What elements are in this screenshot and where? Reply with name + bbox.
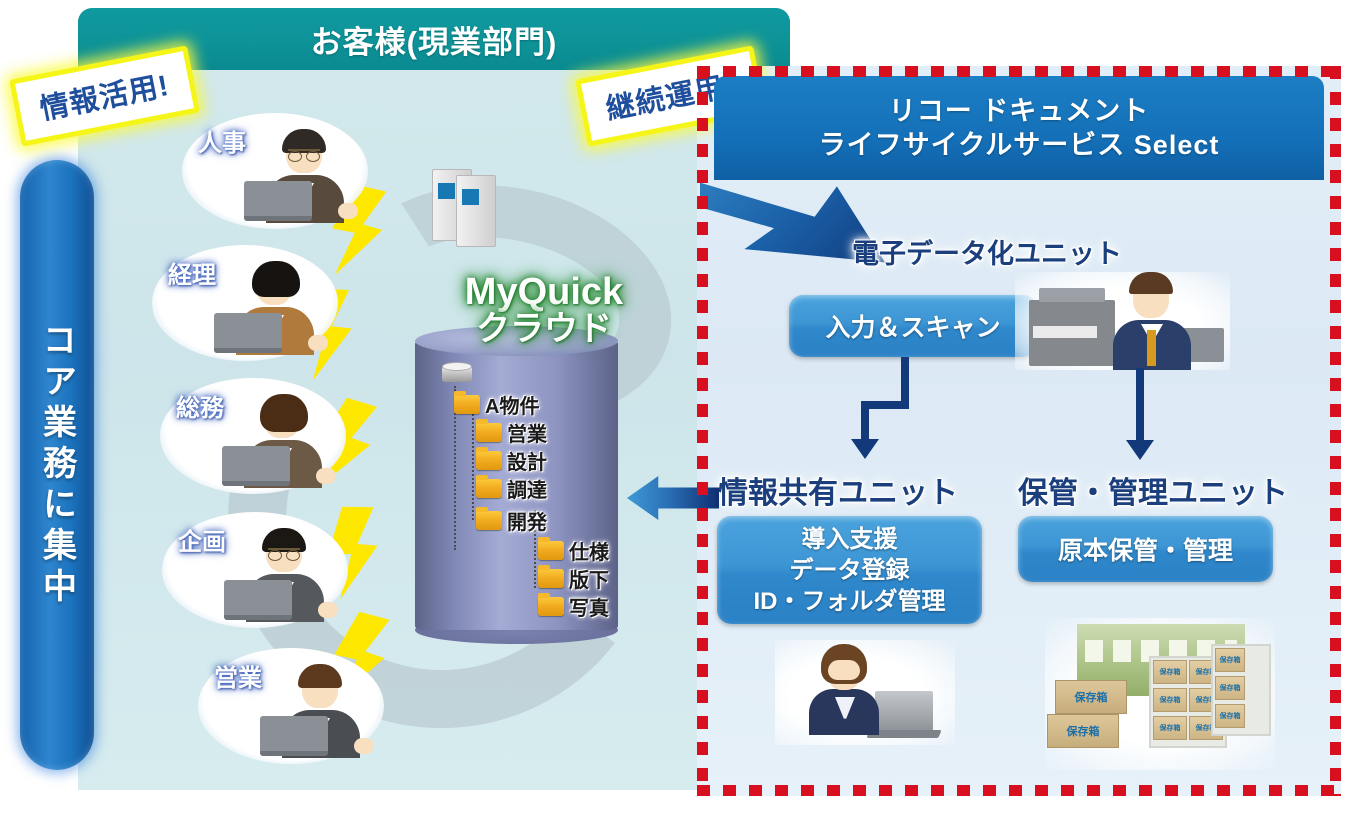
storage-box: 保存箱 — [1215, 704, 1245, 728]
warehouse-illustration: 保存箱 保存箱 保存箱 保存箱 保存箱 保存箱 保存箱 保存箱 保存箱 保存箱 … — [1045, 618, 1275, 770]
person-figure-icon — [222, 396, 334, 488]
arrow-to-sharing-unit — [845, 357, 915, 462]
folder-label: 版下 — [569, 564, 609, 593]
storage-box: 保存箱 — [1153, 716, 1187, 740]
folder-row[interactable]: 設計 — [476, 446, 547, 475]
arrow-to-storage-unit — [1128, 368, 1158, 464]
folder-icon — [538, 597, 564, 616]
database-icon — [442, 362, 472, 386]
folder-icon — [476, 479, 502, 498]
persona-general-affairs: 総務 — [160, 378, 346, 494]
persona-label: 経理 — [168, 255, 216, 290]
button-label: ID・フォルダ管理 — [754, 586, 946, 617]
unit-title-digitization: 電子データ化ユニット — [852, 232, 1122, 271]
myquick-cloud-label: クラウド — [444, 311, 644, 347]
storage-box-label: 保存箱 — [1160, 695, 1181, 705]
folder-row[interactable]: 営業 — [476, 418, 547, 447]
tree-connector — [472, 402, 474, 520]
storage-box-label: 保存箱 — [1220, 711, 1241, 721]
persona-sales: 営業 — [198, 648, 384, 764]
folder-icon — [538, 569, 564, 588]
laptop-icon — [875, 691, 933, 731]
myquick-brand: MyQuick — [444, 273, 644, 311]
folder-icon — [454, 395, 480, 414]
multifunction-printer-icon — [1029, 300, 1115, 366]
persona-hr: 人事 — [182, 113, 368, 229]
storage-box-label: 保存箱 — [1160, 667, 1181, 677]
storage-box-label: 保存箱 — [1220, 655, 1241, 665]
folder-icon — [476, 451, 502, 470]
service-title-line1: リコー ドキュメント — [889, 94, 1150, 128]
folder-label: 調達 — [507, 474, 547, 503]
storage-box-label: 保存箱 — [1075, 689, 1108, 705]
person-figure-icon — [260, 666, 372, 758]
folder-row[interactable]: 版下 — [538, 564, 609, 593]
storage-box-label: 保存箱 — [1220, 683, 1241, 693]
storage-box: 保存箱 — [1215, 648, 1245, 672]
folder-row[interactable]: 開発 — [476, 506, 547, 535]
diagram-canvas: お客様(現業部門) コア業務に集中 人事 経理 総務 — [0, 0, 1351, 815]
folder-row[interactable]: 写真 — [538, 592, 609, 621]
person-figure-icon — [224, 530, 336, 622]
support-staff-illustration — [775, 640, 955, 745]
folder-label: 仕様 — [569, 536, 609, 565]
folder-row[interactable]: A物件 — [454, 390, 539, 419]
myquick-cloud-title: MyQuick クラウド — [444, 273, 644, 347]
persona-accounting: 経理 — [152, 245, 338, 361]
button-original-storage-management[interactable]: 原本保管・管理 — [1018, 516, 1273, 582]
folder-row[interactable]: 仕様 — [538, 536, 609, 565]
unit-title-storage-management: 保管・管理ユニット — [1018, 468, 1288, 512]
persona-label: 企画 — [178, 522, 226, 557]
folder-label: A物件 — [485, 390, 539, 419]
storage-box: 保存箱 — [1047, 714, 1119, 748]
button-input-scan[interactable]: 入力＆スキャン — [789, 295, 1037, 357]
button-label: 入力＆スキャン — [825, 308, 1000, 344]
documents-icon — [432, 165, 498, 247]
core-business-pill: コア業務に集中 — [20, 160, 94, 770]
storage-box: 保存箱 — [1055, 680, 1127, 714]
persona-label: 総務 — [176, 388, 224, 423]
button-label: データ登録 — [790, 555, 910, 586]
folder-label: 営業 — [507, 418, 547, 447]
unit-title-information-sharing: 情報共有ユニット — [718, 468, 958, 512]
person-figure-icon — [244, 131, 356, 223]
folder-label: 写真 — [569, 592, 609, 621]
service-title-line2: ライフサイクルサービス Select — [819, 128, 1220, 162]
storage-box: 保存箱 — [1153, 660, 1187, 684]
folder-label: 設計 — [507, 446, 547, 475]
core-business-label: コア業務に集中 — [33, 322, 82, 609]
customer-panel-title: お客様(現業部門) — [311, 17, 558, 62]
scanner-operator-illustration — [1015, 272, 1230, 370]
button-information-sharing-services[interactable]: 導入支援 データ登録 ID・フォルダ管理 — [717, 516, 982, 624]
service-panel-header: リコー ドキュメント ライフサイクルサービス Select — [714, 76, 1324, 180]
folder-label: 開発 — [507, 506, 547, 535]
persona-planning: 企画 — [162, 512, 348, 628]
storage-box-label: 保存箱 — [1160, 723, 1181, 733]
folder-icon — [538, 541, 564, 560]
person-figure-icon — [214, 263, 326, 355]
folder-icon — [476, 423, 502, 442]
persona-label: 人事 — [198, 123, 246, 158]
folder-icon — [476, 511, 502, 530]
storage-box: 保存箱 — [1215, 676, 1245, 700]
button-label: 導入支援 — [802, 524, 898, 555]
button-label: 原本保管・管理 — [1058, 531, 1233, 567]
storage-box-label: 保存箱 — [1067, 723, 1100, 739]
folder-row[interactable]: 調達 — [476, 474, 547, 503]
persona-label: 営業 — [214, 658, 262, 693]
storage-box: 保存箱 — [1153, 688, 1187, 712]
flow-swoosh-right — [1321, 288, 1351, 805]
